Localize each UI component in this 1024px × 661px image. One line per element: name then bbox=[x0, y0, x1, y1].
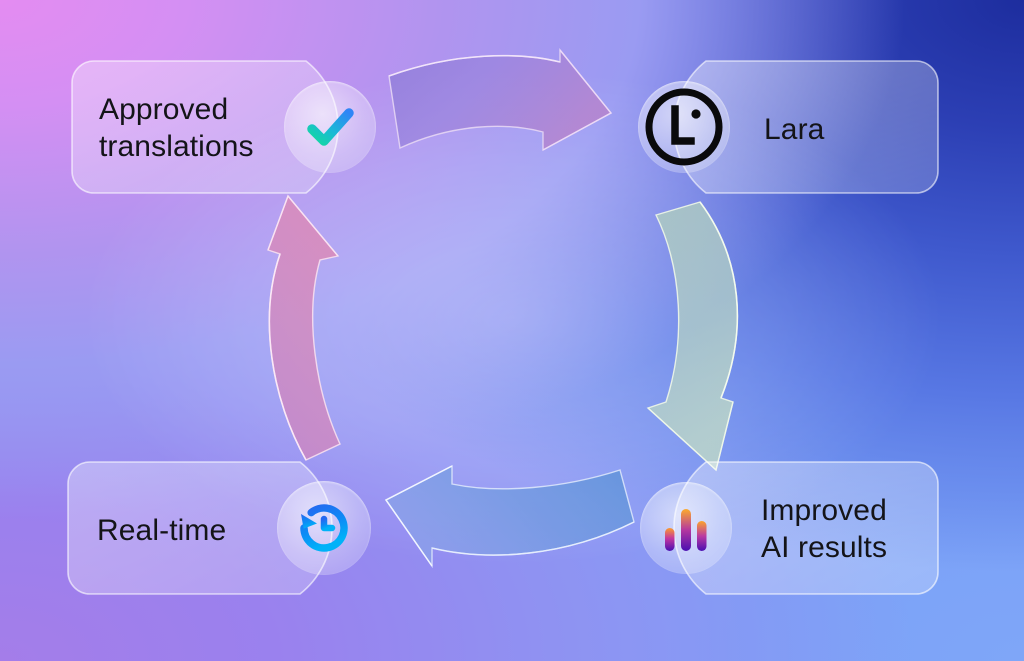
lara-logo-icon bbox=[638, 81, 730, 173]
arrow-bottom-improved-to-realtime bbox=[386, 466, 634, 566]
clock-rotate-left-glyph bbox=[291, 495, 357, 561]
node-card-lara[interactable]: Lara bbox=[630, 59, 940, 195]
check-icon-glyph bbox=[299, 96, 361, 158]
arrow-top-approved-to-lara bbox=[389, 50, 611, 150]
card-label-real-time: Real-time bbox=[97, 512, 226, 549]
node-card-approved-translations[interactable]: Approved translations bbox=[70, 59, 390, 195]
arrow-left-realtime-to-approved bbox=[268, 196, 340, 460]
card-label-lara: Lara bbox=[764, 111, 824, 148]
arrow-right-lara-to-improved bbox=[648, 202, 737, 470]
bar-chart-icon bbox=[640, 482, 732, 574]
node-card-improved-ai-results[interactable]: Improved AI results bbox=[630, 460, 940, 596]
check-circle-icon bbox=[284, 81, 376, 173]
clock-rotate-left-icon bbox=[277, 481, 371, 575]
node-card-real-time[interactable]: Real-time bbox=[66, 460, 384, 596]
lara-logo-glyph bbox=[642, 85, 726, 169]
card-label-approved-translations: Approved translations bbox=[99, 91, 254, 165]
card-label-improved-ai-results: Improved AI results bbox=[761, 492, 887, 566]
cycle-diagram: Approved translations bbox=[0, 0, 1024, 661]
bar-chart-glyph bbox=[658, 500, 714, 556]
